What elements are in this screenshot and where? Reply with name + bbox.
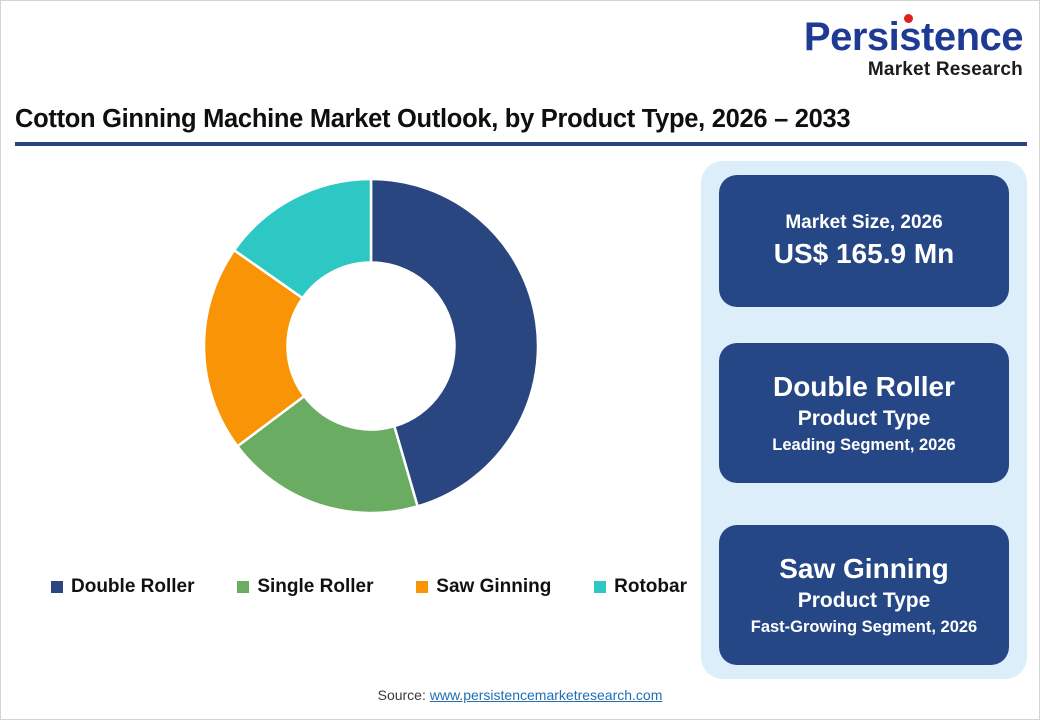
source-line: Source: www.persistencemarketresearch.co…: [1, 687, 1039, 703]
legend-label-single-roller: Single Roller: [257, 576, 373, 598]
card-fastest-segment-name: Saw Ginning: [779, 551, 949, 587]
card-market-size: Market Size, 2026 US$ 165.9 Mn: [719, 175, 1009, 307]
card-leading-segment-note: Leading Segment, 2026: [772, 434, 955, 457]
legend-item-saw-ginning[interactable]: Saw Ginning: [416, 576, 551, 598]
donut-chart: [204, 179, 538, 513]
card-market-size-label: Market Size, 2026: [785, 210, 942, 236]
logo-wordmark-text: Persistence: [804, 15, 1023, 59]
card-leading-segment: Double Roller Product Type Leading Segme…: [719, 343, 1009, 483]
logo-star-icon: [904, 14, 913, 23]
source-prefix: Source:: [378, 687, 430, 703]
card-leading-segment-type: Product Type: [798, 405, 931, 433]
legend-swatch-rotobar: [594, 581, 606, 593]
card-fastest-segment-type: Product Type: [798, 587, 931, 615]
source-link[interactable]: www.persistencemarketresearch.com: [430, 687, 663, 703]
legend-item-double-roller[interactable]: Double Roller: [51, 576, 195, 598]
highlights-panel: Market Size, 2026 US$ 165.9 Mn Double Ro…: [701, 161, 1027, 679]
card-leading-segment-name: Double Roller: [773, 369, 955, 405]
chart-page: Persistence Market Research Cotton Ginni…: [0, 0, 1040, 720]
chart-legend: Double Roller Single Roller Saw Ginning …: [51, 576, 687, 598]
page-title: Cotton Ginning Machine Market Outlook, b…: [15, 105, 1027, 134]
legend-label-rotobar: Rotobar: [614, 576, 687, 598]
logo-wordmark: Persistence: [804, 17, 1023, 57]
legend-swatch-single-roller: [237, 581, 249, 593]
donut-chart-area: [15, 161, 687, 561]
legend-item-rotobar[interactable]: Rotobar: [594, 576, 687, 598]
card-fastest-segment-note: Fast-Growing Segment, 2026: [751, 616, 977, 639]
legend-swatch-saw-ginning: [416, 581, 428, 593]
legend-swatch-double-roller: [51, 581, 63, 593]
legend-label-saw-ginning: Saw Ginning: [436, 576, 551, 598]
legend-label-double-roller: Double Roller: [71, 576, 195, 598]
card-market-size-value: US$ 165.9 Mn: [774, 236, 955, 272]
legend-item-single-roller[interactable]: Single Roller: [237, 576, 373, 598]
title-block: Cotton Ginning Machine Market Outlook, b…: [15, 105, 1027, 146]
logo-tagline: Market Research: [804, 60, 1023, 79]
donut-slices: [204, 179, 538, 513]
card-fastest-segment: Saw Ginning Product Type Fast-Growing Se…: [719, 525, 1009, 665]
title-divider: [15, 142, 1027, 146]
company-logo: Persistence Market Research: [804, 17, 1023, 79]
